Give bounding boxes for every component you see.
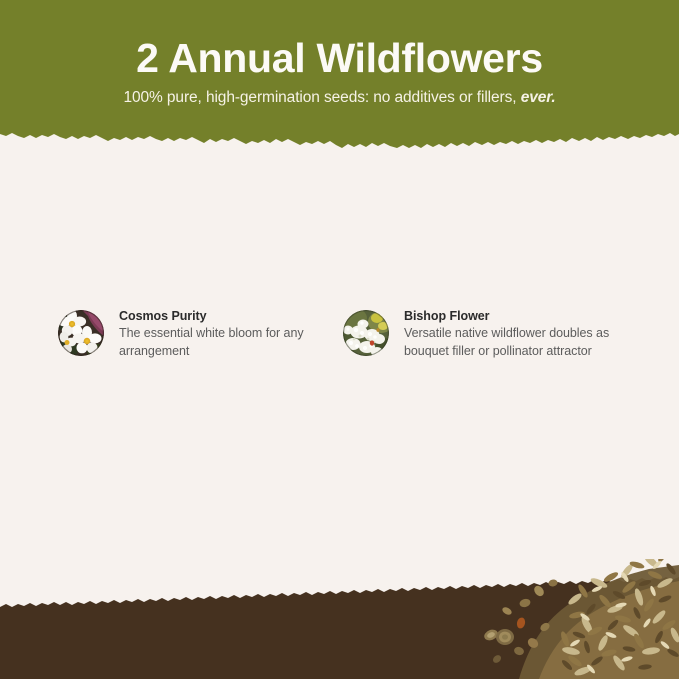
- variety-list: Cosmos Purity The essential white bloom …: [0, 152, 679, 600]
- list-item-text: Cosmos Purity The essential white bloom …: [104, 308, 333, 360]
- bishop-flower-photo: [343, 310, 389, 356]
- subtitle-main-text: 100% pure, high-germination seeds: no ad…: [123, 89, 520, 106]
- list-item-title: Bishop Flower: [404, 308, 618, 325]
- page-subtitle: 100% pure, high-germination seeds: no ad…: [0, 83, 679, 108]
- product-feature-graphic: 2 Annual Wildflowers 100% pure, high-ger…: [0, 0, 679, 679]
- list-item-description: Versatile native wildflower doubles as b…: [404, 325, 618, 360]
- cosmos-purity-photo: [58, 310, 104, 356]
- page-title: 2 Annual Wildflowers: [0, 0, 679, 83]
- list-item[interactable]: Cosmos Purity The essential white bloom …: [58, 308, 333, 360]
- list-item[interactable]: Bishop Flower Versatile native wildflowe…: [343, 308, 618, 360]
- subtitle-emphasis-text: ever.: [521, 89, 556, 106]
- list-item-description: The essential white bloom for any arrang…: [119, 325, 333, 360]
- main-content: Cosmos Purity The essential white bloom …: [0, 152, 679, 600]
- header-banner: 2 Annual Wildflowers 100% pure, high-ger…: [0, 0, 679, 152]
- list-item-title: Cosmos Purity: [119, 308, 333, 325]
- header-text-block: 2 Annual Wildflowers 100% pure, high-ger…: [0, 0, 679, 108]
- footer-banner: [0, 559, 679, 679]
- footer-torn-shape: [0, 559, 679, 679]
- list-item-text: Bishop Flower Versatile native wildflowe…: [389, 308, 618, 360]
